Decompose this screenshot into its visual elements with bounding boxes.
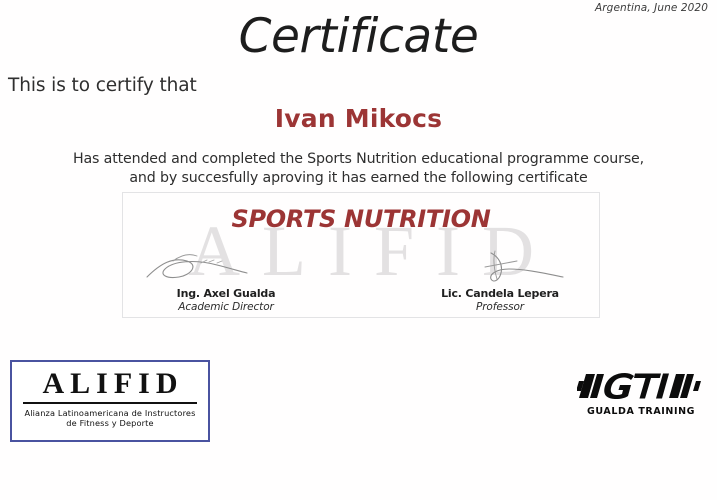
course-name: SPORTS NUTRITION <box>123 205 599 233</box>
certificate-title: Certificate <box>0 12 717 61</box>
alifid-divider <box>23 402 197 404</box>
alifid-tagline-line-2: de Fitness y Deporte <box>21 418 199 428</box>
certificate-page: Argentina, June 2020 Certificate This is… <box>0 0 717 500</box>
alifid-tagline-line-1: Alianza Latinoamericana de Instructores <box>21 408 199 418</box>
certify-intro-text: This is to certify that <box>8 75 197 96</box>
signature-role: Professor <box>405 301 595 313</box>
gti-bars-icon <box>577 365 705 405</box>
award-panel: ALIFID SPORTS NUTRITION Ing. Axel Gualda… <box>122 192 600 318</box>
signature-name: Ing. Axel Gualda <box>131 287 321 300</box>
certificate-body-text: Has attended and completed the Sports Nu… <box>60 150 657 188</box>
alifid-logo: ALIFID Alianza Latinoamericana de Instru… <box>10 360 210 442</box>
signature-role: Academic Director <box>131 301 321 313</box>
signature-block-academic-director: Ing. Axel Gualda Academic Director <box>131 287 321 313</box>
signature-block-professor: Lic. Candela Lepera Professor <box>405 287 595 313</box>
gti-tagline: GUALDA TRAINING <box>577 406 705 417</box>
alifid-tagline: Alianza Latinoamericana de Instructores … <box>21 408 199 428</box>
body-line-1: Has attended and completed the Sports Nu… <box>60 150 657 169</box>
recipient-name: Ivan Mikocs <box>0 104 717 133</box>
body-line-2: and by succesfully aproving it has earne… <box>60 169 657 188</box>
signature-name: Lic. Candela Lepera <box>405 287 595 300</box>
gti-logo: GUALDA TRAINING <box>577 365 705 425</box>
alifid-wordmark: ALIFID <box>21 367 199 401</box>
